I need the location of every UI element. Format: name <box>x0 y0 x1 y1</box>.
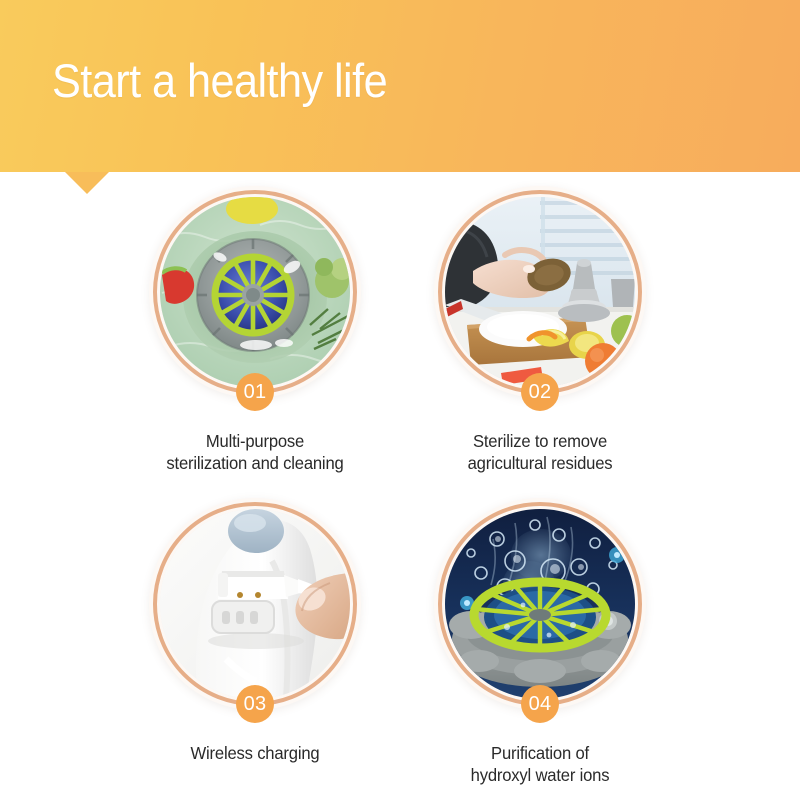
feature-card-02[interactable]: 02 Sterilize to remove agricultural resi… <box>390 186 690 474</box>
feature-badge-02: 02 <box>521 373 559 411</box>
caption-line-1: Sterilize to remove <box>398 430 683 452</box>
magnetic-charging-cable-attaching-to-device-image <box>160 509 350 699</box>
feature-photo-wrapper-04: 04 <box>434 498 646 710</box>
feature-photo-wrapper-01: 01 <box>149 186 361 398</box>
header-banner: Start a healthy life <box>0 0 800 172</box>
feature-caption-02: Sterilize to remove agricultural residue… <box>398 430 683 474</box>
sterilizer-in-bowl-of-water-with-produce-image <box>160 197 350 387</box>
feature-caption-03: Wireless charging <box>113 742 398 764</box>
feature-card-03[interactable]: 03 Wireless charging <box>105 498 405 764</box>
caption-line-1: Wireless charging <box>113 742 398 764</box>
caption-line-2: hydroxyl water ions <box>398 764 683 786</box>
caption-line-2: sterilization and cleaning <box>113 452 398 474</box>
hands-preparing-fruit-on-kitchen-counter-image <box>445 197 635 387</box>
feature-photo-wrapper-03: 03 <box>149 498 361 710</box>
caption-line-1: Multi-purpose <box>113 430 398 452</box>
caption-line-1: Purification of <box>398 742 683 764</box>
feature-badge-01: 01 <box>236 373 274 411</box>
page-title: Start a healthy life <box>52 52 387 110</box>
feature-badge-04: 04 <box>521 685 559 723</box>
feature-photo-wrapper-02: 02 <box>434 186 646 398</box>
feature-badge-03: 03 <box>236 685 274 723</box>
caption-line-2: agricultural residues <box>398 452 683 474</box>
feature-grid: 01 Multi-purpose sterilization and clean… <box>0 180 800 800</box>
feature-card-04[interactable]: 04 Purification of hydroxyl water ions <box>390 498 690 786</box>
feature-caption-01: Multi-purpose sterilization and cleaning <box>113 430 398 474</box>
device-underwater-emitting-bubbles-image <box>445 509 635 699</box>
feature-card-01[interactable]: 01 Multi-purpose sterilization and clean… <box>105 186 405 474</box>
feature-caption-04: Purification of hydroxyl water ions <box>398 742 683 786</box>
